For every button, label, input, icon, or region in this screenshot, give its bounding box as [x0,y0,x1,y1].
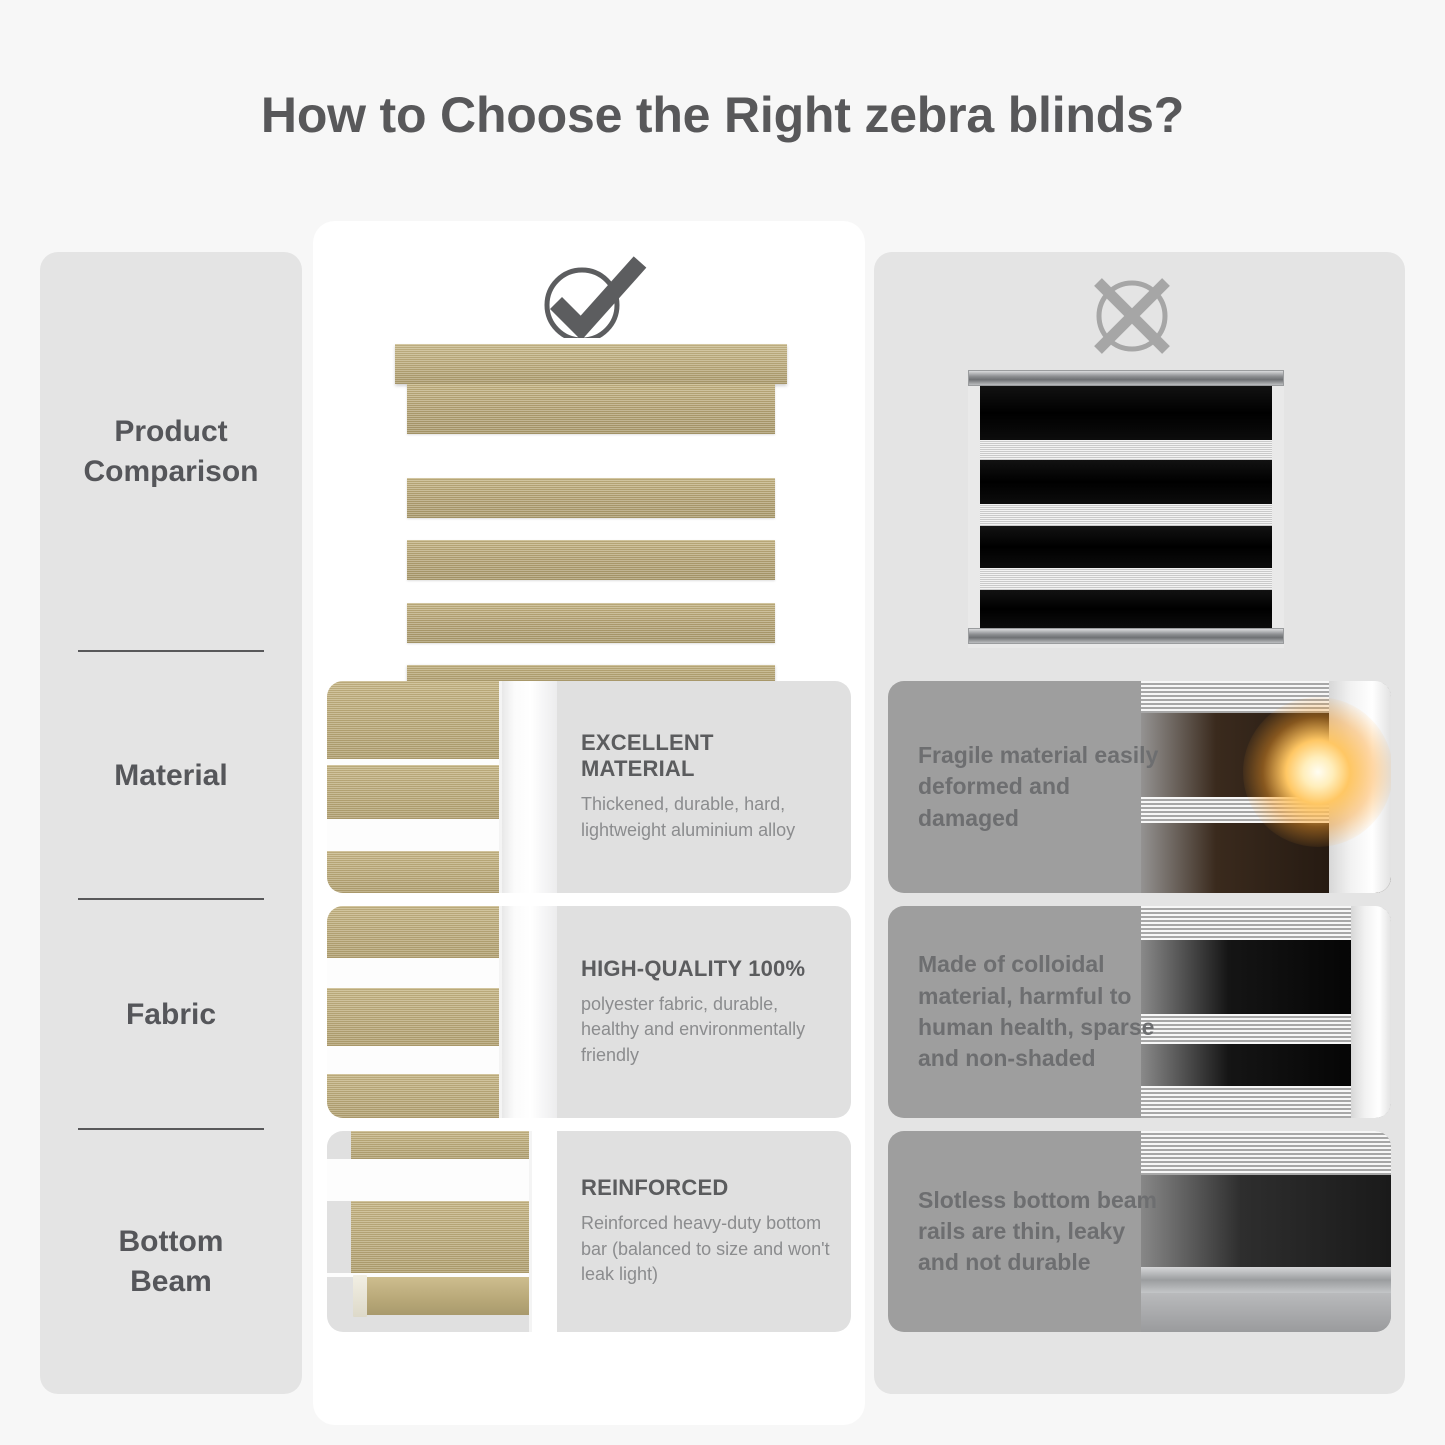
comparison-category-sidebar: ProductComparison Material Fabric Bottom… [40,252,302,1394]
bad-hero-blind-image [968,370,1284,648]
bottom-bar-end-cap [353,1275,367,1317]
blind-head-rail [395,344,787,384]
blind-slat [407,540,775,580]
zebra-light-band [980,568,1272,590]
material-bad-label: Fragile material easily deformed and dam… [918,740,1170,834]
material-good-body: Thickened, durable, hard, lightweight al… [581,792,833,843]
fabric-good-body: polyester fabric, durable, healthy and e… [581,992,833,1069]
fabric-bad-label: Made of colloidal material, harmful to h… [918,949,1170,1074]
sidebar-row-fabric: Fabric [40,900,302,1130]
fabric-good-heading: HIGH-QUALITY 100% [581,956,833,982]
fabric-good-image [327,906,557,1118]
page-title: How to Choose the Right zebra blinds? [0,86,1445,144]
material-bad-text: Fragile material easily deformed and dam… [888,681,1188,893]
bottom-beam-good-image [327,1131,557,1332]
fabric-good-card: HIGH-QUALITY 100% polyester fabric, dura… [327,906,851,1118]
zebra-dark-band [980,590,1272,628]
fabric-bad-text: Made of colloidal material, harmful to h… [888,906,1188,1118]
bottom-beam-good-text: REINFORCED Reinforced heavy-duty bottom … [551,1131,851,1332]
sidebar-label-bottom-beam: BottomBeam [119,1222,224,1303]
material-good-image [327,681,557,893]
sidebar-label-material: Material [114,756,227,797]
blind-slat [407,478,775,518]
zebra-dark-band [980,386,1272,440]
bottom-beam-good-heading: REINFORCED [581,1175,833,1201]
cross-circle-icon [1082,270,1182,362]
blind-top-metal-rail [968,370,1284,386]
bottom-beam-bad-text: Slotless bottom beam rails are thin, lea… [888,1131,1188,1332]
sidebar-label-product-comparison: ProductComparison [83,412,258,493]
sidebar-row-product-comparison: ProductComparison [40,252,302,652]
blind-bottom-metal-rail [968,628,1284,644]
bottom-beam-good-body: Reinforced heavy-duty bottom bar (balanc… [581,1211,833,1288]
bottom-beam-bad-label: Slotless bottom beam rails are thin, lea… [918,1185,1170,1279]
bottom-beam-good-card: REINFORCED Reinforced heavy-duty bottom … [327,1131,851,1332]
fabric-bad-card: Made of colloidal material, harmful to h… [888,906,1391,1118]
zebra-light-band [980,504,1272,526]
material-good-text: EXCELLENT MATERIAL Thickened, durable, h… [551,681,851,893]
zebra-dark-band [980,526,1272,568]
material-good-heading: EXCELLENT MATERIAL [581,730,833,782]
sidebar-label-fabric: Fabric [126,995,216,1036]
blind-slat [407,603,775,643]
bottom-beam-bad-card: Slotless bottom beam rails are thin, lea… [888,1131,1391,1332]
sidebar-row-material: Material [40,652,302,900]
sidebar-row-bottom-beam: BottomBeam [40,1130,302,1394]
blind-slat [407,384,775,434]
zebra-light-band [980,440,1272,460]
good-hero-blind-image [385,338,795,668]
check-circle-icon [534,252,648,348]
fabric-good-text: HIGH-QUALITY 100% polyester fabric, dura… [551,906,851,1118]
zebra-dark-band [980,460,1272,504]
material-bad-card: Fragile material easily deformed and dam… [888,681,1391,893]
material-good-card: EXCELLENT MATERIAL Thickened, durable, h… [327,681,851,893]
